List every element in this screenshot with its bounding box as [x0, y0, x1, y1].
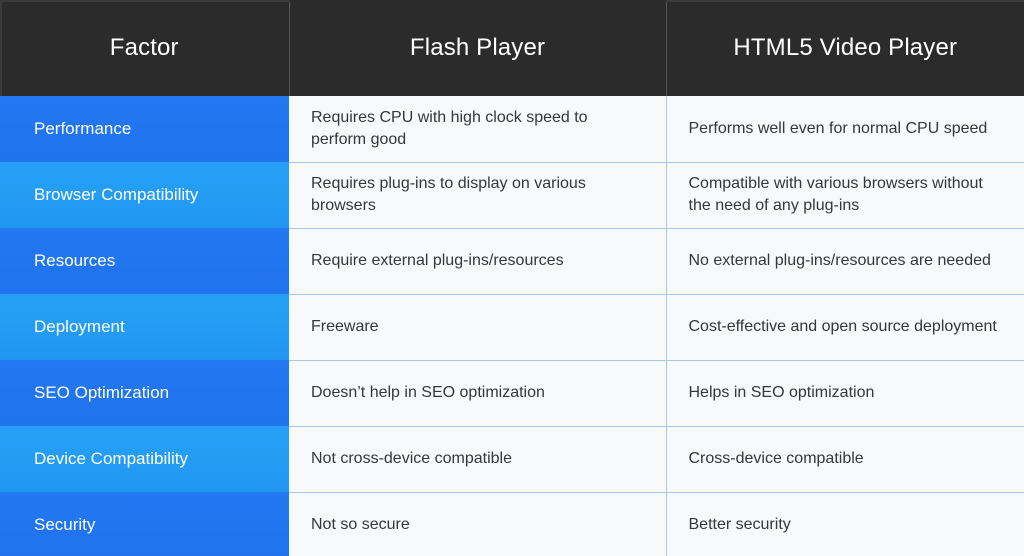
cell-flash-security: Not so secure: [289, 492, 666, 556]
cell-html5-seo-optimization: Helps in SEO optimization: [666, 360, 1024, 426]
row-label-seo-optimization: SEO Optimization: [0, 360, 289, 426]
cell-html5-performance: Performs well even for normal CPU speed: [666, 96, 1024, 162]
row-label-browser-compatibility: Browser Compatibility: [0, 162, 289, 228]
factor-label-text: Browser Compatibility: [34, 183, 273, 206]
cell-flash-resources: Require external plug-ins/resources: [289, 228, 666, 294]
cell-text: Not cross-device compatible: [311, 448, 644, 470]
row-label-performance: Performance: [0, 96, 289, 162]
table-row: Browser Compatibility Requires plug-ins …: [0, 162, 1024, 228]
cell-flash-browser-compatibility: Requires plug-ins to display on various …: [289, 162, 666, 228]
cell-flash-seo-optimization: Doesn’t help in SEO optimization: [289, 360, 666, 426]
column-header-flash-player: Flash Player: [289, 0, 666, 96]
factor-label-text: SEO Optimization: [34, 381, 273, 404]
comparison-table-container: Factor Flash Player HTML5 Video Player P…: [0, 0, 1024, 556]
column-header-factor: Factor: [0, 0, 289, 96]
cell-html5-device-compatibility: Cross-device compatible: [666, 426, 1024, 492]
factor-label-text: Security: [34, 513, 273, 536]
cell-flash-deployment: Freeware: [289, 294, 666, 360]
cell-text: Better security: [689, 514, 1003, 536]
table-header-row: Factor Flash Player HTML5 Video Player: [0, 0, 1024, 96]
cell-text: Requires plug-ins to display on various …: [311, 173, 644, 217]
cell-text: Require external plug-ins/resources: [311, 250, 644, 272]
cell-text: No external plug-ins/resources are neede…: [689, 250, 1003, 272]
row-label-device-compatibility: Device Compatibility: [0, 426, 289, 492]
cell-text: Freeware: [311, 316, 644, 338]
cell-flash-performance: Requires CPU with high clock speed to pe…: [289, 96, 666, 162]
factor-label-text: Performance: [34, 117, 273, 140]
column-header-html5-video-player: HTML5 Video Player: [666, 0, 1024, 96]
cell-text: Performs well even for normal CPU speed: [689, 118, 1003, 140]
table-body: Performance Requires CPU with high clock…: [0, 96, 1024, 556]
table-row: Resources Require external plug-ins/reso…: [0, 228, 1024, 294]
row-label-security: Security: [0, 492, 289, 556]
table-row: Deployment Freeware Cost-effective and o…: [0, 294, 1024, 360]
table-row: SEO Optimization Doesn’t help in SEO opt…: [0, 360, 1024, 426]
cell-text: Not so secure: [311, 514, 644, 536]
factor-label-text: Device Compatibility: [34, 447, 273, 470]
cell-text: Helps in SEO optimization: [689, 382, 1003, 404]
cell-html5-resources: No external plug-ins/resources are neede…: [666, 228, 1024, 294]
table-header: Factor Flash Player HTML5 Video Player: [0, 0, 1024, 96]
cell-html5-security: Better security: [666, 492, 1024, 556]
flash-vs-html5-comparison-table: Factor Flash Player HTML5 Video Player P…: [0, 0, 1024, 556]
table-row: Performance Requires CPU with high clock…: [0, 96, 1024, 162]
factor-label-text: Resources: [34, 249, 273, 272]
row-label-resources: Resources: [0, 228, 289, 294]
row-label-deployment: Deployment: [0, 294, 289, 360]
cell-text: Doesn’t help in SEO optimization: [311, 382, 644, 404]
cell-text: Cost-effective and open source deploymen…: [689, 316, 1003, 338]
cell-text: Compatible with various browsers without…: [689, 173, 1003, 217]
cell-text: Requires CPU with high clock speed to pe…: [311, 107, 644, 151]
cell-html5-browser-compatibility: Compatible with various browsers without…: [666, 162, 1024, 228]
cell-html5-deployment: Cost-effective and open source deploymen…: [666, 294, 1024, 360]
cell-text: Cross-device compatible: [689, 448, 1003, 470]
factor-label-text: Deployment: [34, 315, 273, 338]
cell-flash-device-compatibility: Not cross-device compatible: [289, 426, 666, 492]
table-row: Security Not so secure Better security: [0, 492, 1024, 556]
table-row: Device Compatibility Not cross-device co…: [0, 426, 1024, 492]
